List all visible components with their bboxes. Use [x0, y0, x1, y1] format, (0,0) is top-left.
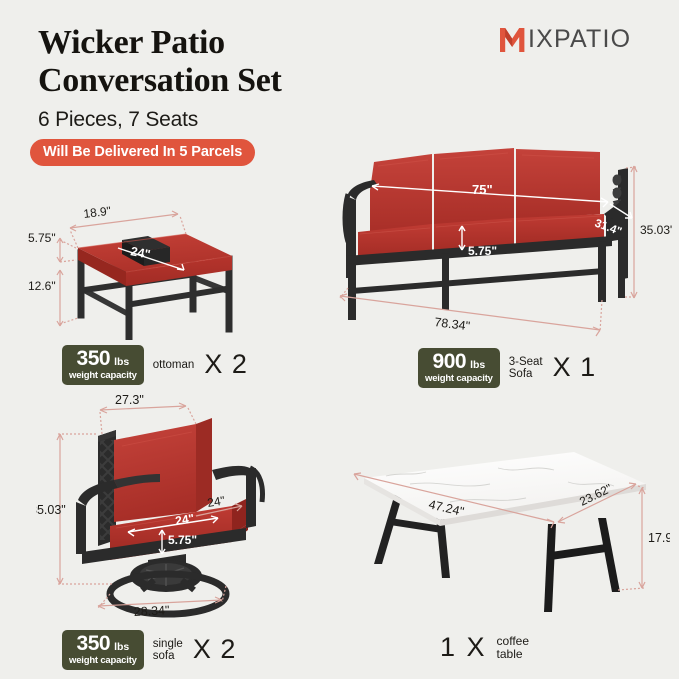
caption-ottoman: 350 lbs weight capacity ottoman X 2: [62, 345, 248, 385]
table-illustration: 47.24" 23.62" 17.9": [330, 440, 670, 615]
product-name-ottoman: ottoman: [153, 359, 195, 371]
table-dim-height: 17.9": [648, 531, 670, 545]
product-name-chair: single sofa: [153, 638, 183, 662]
chair-dim-depth: 24": [206, 493, 226, 510]
ottoman-dim-height: 12.6": [28, 279, 56, 293]
product-quantity-table: 1 X: [440, 632, 487, 663]
weight-value: 350: [77, 633, 111, 654]
product-name-line-1: single: [153, 638, 183, 650]
title-line-2: Conversation Set: [38, 62, 458, 100]
sofa-dim-seat-width: 75": [472, 182, 493, 197]
ottoman-dim-cushion: 5.75": [28, 231, 56, 245]
caption-sofa: 900 lbs weight capacity 3-Seat Sofa X 1: [418, 348, 596, 388]
product-quantity-chair: X 2: [193, 634, 237, 665]
sofa-dim-height: 35.03": [640, 223, 672, 237]
sofa-dim-width: 78.34": [434, 315, 471, 333]
chair-dim-seat: 24": [174, 511, 195, 528]
product-quantity-ottoman: X 2: [204, 349, 248, 380]
logo-m-icon: [499, 26, 526, 54]
product-image-sofa: 75" 31.4" 5.75" 35.03" 78.34": [322, 138, 672, 343]
product-name-line-2: Sofa: [509, 368, 543, 380]
product-infographic: Wicker Patio Conversation Set 6 Pieces, …: [0, 0, 679, 679]
weight-capacity-badge-sofa: 900 lbs weight capacity: [418, 348, 500, 388]
product-image-chair: 27.3" 35.03" 24" 24" 5.75" 28.34": [36, 394, 326, 624]
weight-capacity-badge-ottoman: 350 lbs weight capacity: [62, 345, 144, 385]
sofa-dim-cushion: 5.75": [468, 244, 497, 258]
delivery-parcels-badge: Will Be Delivered In 5 Parcels: [30, 139, 255, 166]
product-image-ottoman: 18.9" 5.75" 12.6" 24": [22, 190, 282, 340]
weight-unit: lbs: [470, 360, 485, 371]
weight-value: 900: [433, 351, 467, 372]
chair-illustration: 27.3" 35.03" 24" 24" 5.75" 28.34": [36, 394, 326, 624]
ottoman-illustration: 18.9" 5.75" 12.6" 24": [22, 190, 282, 340]
weight-unit: lbs: [114, 357, 129, 368]
product-name-sofa: 3-Seat Sofa: [509, 356, 543, 380]
brand-logo: IXPATIO: [499, 25, 631, 54]
chair-dim-cushion: 5.75": [168, 533, 197, 547]
subtitle-pieces-seats: 6 Pieces, 7 Seats: [38, 108, 458, 132]
weight-capacity-label: weight capacity: [425, 374, 493, 384]
product-name-line-1: 3-Seat: [509, 356, 543, 368]
product-name-line-1: coffee: [497, 635, 529, 648]
weight-unit: lbs: [114, 642, 129, 653]
weight-capacity-badge-chair: 350 lbs weight capacity: [62, 630, 144, 670]
product-image-table: 47.24" 23.62" 17.9": [330, 440, 670, 615]
sofa-illustration: 75" 31.4" 5.75" 35.03" 78.34": [322, 138, 672, 343]
caption-table: 1 X coffee table: [440, 632, 529, 663]
chair-dim-base-width: 28.34": [133, 603, 169, 619]
caption-chair: 350 lbs weight capacity single sofa X 2: [62, 630, 236, 670]
title-line-1: Wicker Patio: [38, 24, 458, 62]
weight-value: 350: [77, 348, 111, 369]
weight-capacity-label: weight capacity: [69, 656, 137, 666]
chair-dim-height: 35.03": [36, 503, 66, 517]
product-name-table: coffee table: [497, 635, 529, 661]
chair-dim-width: 27.3": [115, 394, 144, 407]
page-title: Wicker Patio Conversation Set 6 Pieces, …: [38, 24, 458, 132]
logo-wordmark: IXPATIO: [528, 25, 631, 54]
product-name-line-2: table: [497, 648, 529, 661]
weight-capacity-label: weight capacity: [69, 371, 137, 381]
product-quantity-sofa: X 1: [553, 352, 597, 383]
ottoman-dim-width: 18.9": [83, 204, 112, 221]
product-name-line-2: sofa: [153, 650, 183, 662]
